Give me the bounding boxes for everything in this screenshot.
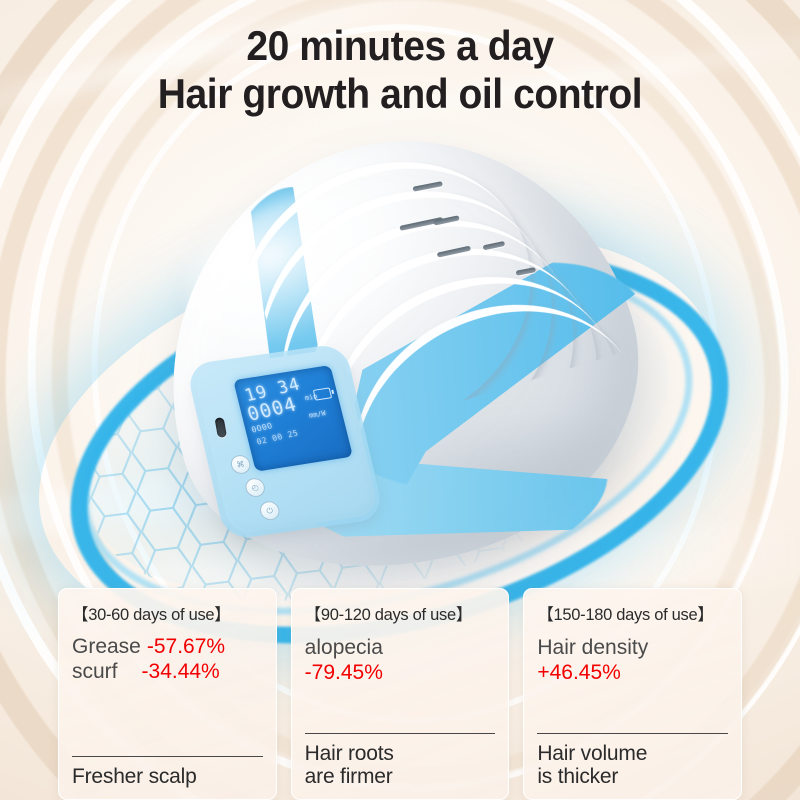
card-footer: Hair roots are firmer — [305, 742, 496, 789]
card-divider — [72, 756, 263, 757]
card-footer-line-1: Hair volume — [537, 742, 647, 765]
card-metrics: alopecia -79.45% — [305, 635, 496, 727]
card-heading: 【30-60 days of use】 — [72, 601, 263, 625]
metric-label: Hair density — [537, 636, 648, 659]
benefit-card-2: 【90-120 days of use】 alopecia -79.45% Ha… — [291, 588, 510, 800]
control-panel[interactable]: 19 34 0004 0O0O 02 00 25 min mm/W ⌘ ◴ ⏻ — [192, 348, 379, 535]
benefit-card-3: 【150-180 days of use】 Hair density +46.4… — [523, 588, 742, 800]
metric-label: alopecia — [305, 636, 383, 659]
card-footer-line-2: are firmer — [305, 765, 393, 788]
card-footer-line-2: is thicker — [537, 765, 618, 788]
product-device: 19 34 0004 0O0O 02 00 25 min mm/W ⌘ ◴ ⏻ — [150, 130, 680, 580]
lcd-sub-value: 0O0O — [251, 422, 274, 434]
card-heading: 【90-120 days of use】 — [305, 601, 496, 625]
metric-row: scurf -34.44% — [72, 660, 263, 685]
promo-poster: 20 minutes a day Hair growth and oil con… — [0, 0, 800, 800]
metric-value: -57.67% — [147, 635, 225, 660]
card-divider — [305, 733, 496, 734]
metric-value: +46.45% — [537, 660, 728, 685]
card-metrics: Grease -57.67% scurf -34.44% — [72, 635, 263, 750]
headline-line-2: Hair growth and oil control — [28, 72, 772, 116]
headline-line-1: 20 minutes a day — [28, 24, 772, 68]
card-footer: Hair volume is thicker — [537, 742, 728, 789]
metric-value: -79.45% — [305, 660, 496, 685]
metric-row: Grease -57.67% — [72, 635, 263, 660]
card-heading: 【150-180 days of use】 — [537, 601, 728, 625]
benefit-cards: 【30-60 days of use】 Grease -57.67% scurf… — [0, 588, 800, 800]
card-divider — [537, 733, 728, 734]
metric-label: scurf — [72, 660, 118, 685]
battery-icon — [313, 387, 332, 400]
card-footer: Fresher scalp — [72, 765, 263, 789]
headline: 20 minutes a day Hair growth and oil con… — [0, 24, 800, 115]
metric-value: -34.44% — [142, 660, 220, 685]
card-metrics: Hair density +46.45% — [537, 635, 728, 727]
lcd-unit-bottom: mm/W — [308, 410, 326, 419]
benefit-card-1: 【30-60 days of use】 Grease -57.67% scurf… — [58, 588, 277, 800]
card-footer-line-1: Hair roots — [305, 742, 394, 765]
metric-label: Grease — [72, 635, 141, 660]
